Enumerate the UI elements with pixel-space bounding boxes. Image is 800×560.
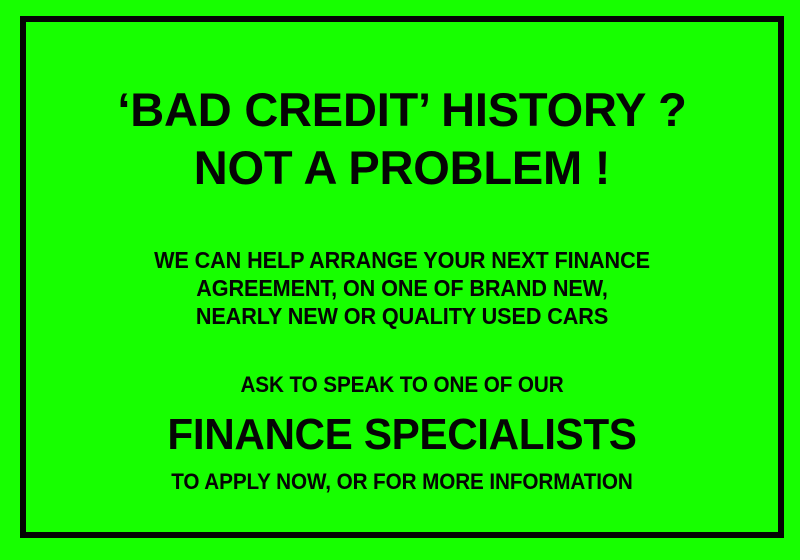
call-to-action-tail: TO APPLY NOW, OR FOR MORE INFORMATION xyxy=(49,469,756,495)
body-line-2: AGREEMENT, ON ONE OF BRAND NEW, xyxy=(49,274,756,302)
headline-line-1: ‘BAD CREDIT’ HISTORY ? xyxy=(26,82,778,138)
poster-content: ‘BAD CREDIT’ HISTORY ? NOT A PROBLEM ! W… xyxy=(26,22,778,532)
call-to-action-lead: ASK TO SPEAK TO ONE OF OUR xyxy=(49,372,756,398)
headline-line-2: NOT A PROBLEM ! xyxy=(26,140,778,196)
body-line-1: WE CAN HELP ARRANGE YOUR NEXT FINANCE xyxy=(49,246,756,274)
call-to-action-emphasis: FINANCE SPECIALISTS xyxy=(41,410,763,460)
advertisement-poster: ‘BAD CREDIT’ HISTORY ? NOT A PROBLEM ! W… xyxy=(0,0,800,560)
body-line-3: NEARLY NEW OR QUALITY USED CARS xyxy=(49,302,756,330)
